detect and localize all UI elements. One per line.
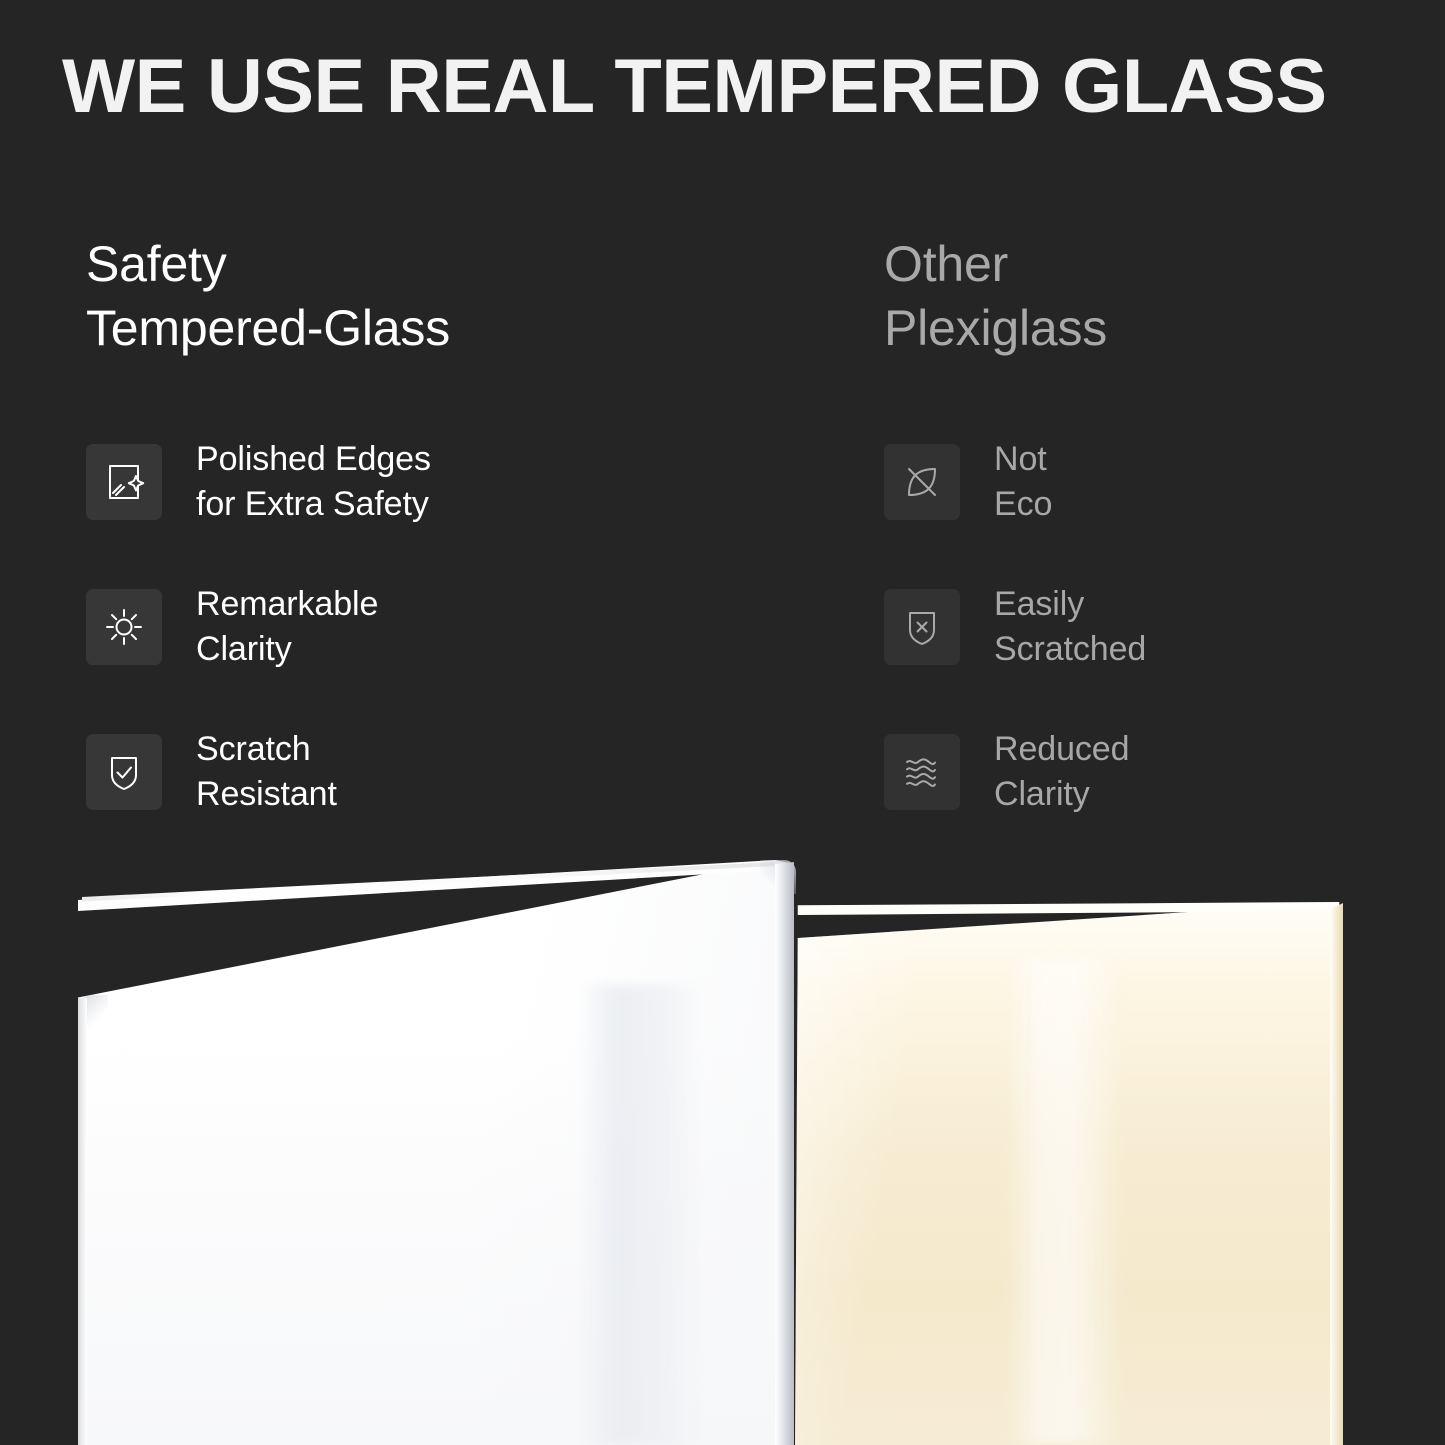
- feature-label: Scratch Resistant: [196, 727, 337, 817]
- page-title: WE USE REAL TEMPERED GLASS: [62, 44, 1419, 130]
- column-heading-right: Other Plexiglass: [884, 232, 1424, 360]
- feature-item-easily-scratched: Easily Scratched: [884, 589, 1424, 665]
- infographic-canvas: WE USE REAL TEMPERED GLASS Safety Temper…: [0, 0, 1445, 1445]
- wavy-distortion-icon: [884, 734, 960, 810]
- white-left-edge: [78, 998, 87, 1445]
- sun-clarity-icon: [86, 589, 162, 665]
- feature-item-polished-edges: Polished Edges for Extra Safety: [86, 444, 846, 520]
- feature-label: Polished Edges for Extra Safety: [196, 437, 431, 527]
- column-safety-tempered-glass: Safety Tempered-Glass Polished Edges for…: [86, 232, 846, 360]
- polished-edge-panel-icon: [86, 444, 162, 520]
- feature-item-not-eco: Not Eco: [884, 444, 1424, 520]
- feature-label: Reduced Clarity: [994, 727, 1129, 817]
- white-polished-right-edge: [775, 862, 794, 1445]
- feature-item-reduced-clarity: Reduced Clarity: [884, 734, 1424, 810]
- feature-item-scratch-resistant: Scratch Resistant: [86, 734, 846, 810]
- feature-label: Remarkable Clarity: [196, 582, 378, 672]
- feature-list-left: Polished Edges for Extra Safety Remarkab…: [86, 444, 846, 810]
- feature-item-remarkable-clarity: Remarkable Clarity: [86, 589, 846, 665]
- leaf-crossed-out-icon: [884, 444, 960, 520]
- shield-check-icon: [86, 734, 162, 810]
- cream-reflection-band: [1005, 958, 1125, 1445]
- white-reflection-band: [580, 985, 700, 1445]
- feature-label: Easily Scratched: [994, 582, 1146, 672]
- product-comparison-photo: [0, 840, 1445, 1445]
- feature-list-right: Not Eco Easily Scratched: [884, 444, 1424, 810]
- feature-label: Not Eco: [994, 437, 1052, 527]
- shield-x-icon: [884, 589, 960, 665]
- cream-right-edge: [1330, 903, 1343, 1445]
- column-other-plexiglass: Other Plexiglass Not Eco: [884, 232, 1424, 360]
- column-heading-left: Safety Tempered-Glass: [86, 232, 846, 360]
